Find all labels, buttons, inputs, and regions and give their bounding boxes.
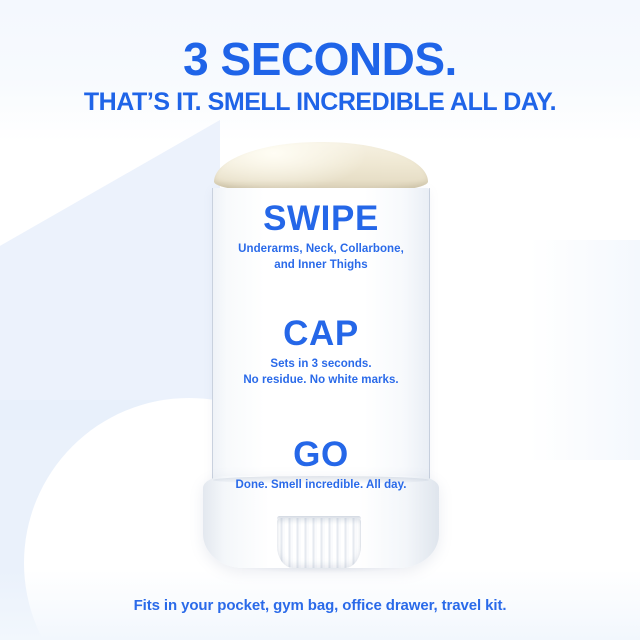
step-detail-line: Underarms, Neck, Collarbone, bbox=[217, 242, 425, 258]
step-spacer bbox=[217, 291, 425, 315]
deodorant-stick-product: SWIPE Underarms, Neck, Collarbone, and I… bbox=[203, 140, 439, 572]
step-title-swipe: SWIPE bbox=[217, 200, 425, 237]
step-title-cap: CAP bbox=[217, 315, 425, 352]
step-detail-swipe: Underarms, Neck, Collarbone, and Inner T… bbox=[217, 242, 425, 273]
product-body-left-edge bbox=[212, 188, 213, 488]
twist-dial-knob bbox=[277, 518, 361, 568]
step-item-swipe: SWIPE Underarms, Neck, Collarbone, and I… bbox=[217, 200, 425, 273]
step-detail-line: Done. Smell incredible. All day. bbox=[217, 478, 425, 494]
step-detail-line: No residue. No white marks. bbox=[217, 373, 425, 389]
headline-group: 3 SECONDS. THAT’S IT. SMELL INCREDIBLE A… bbox=[0, 36, 640, 116]
step-item-go: GO Done. Smell incredible. All day. bbox=[217, 436, 425, 494]
headline-secondary: THAT’S IT. SMELL INCREDIBLE ALL DAY. bbox=[0, 89, 640, 117]
background-right-fade bbox=[530, 240, 640, 460]
step-detail-line: and Inner Thighs bbox=[217, 258, 425, 274]
product-body-right-edge bbox=[429, 188, 430, 488]
step-title-go: GO bbox=[217, 436, 425, 473]
headline-primary: 3 SECONDS. bbox=[0, 36, 640, 83]
step-spacer bbox=[217, 406, 425, 436]
footer-caption: Fits in your pocket, gym bag, office dra… bbox=[0, 597, 640, 614]
product-marketing-poster: 3 SECONDS. THAT’S IT. SMELL INCREDIBLE A… bbox=[0, 0, 640, 640]
step-detail-cap: Sets in 3 seconds. No residue. No white … bbox=[217, 357, 425, 388]
step-detail-go: Done. Smell incredible. All day. bbox=[217, 478, 425, 494]
background-left-wedge-shape bbox=[0, 120, 220, 430]
step-detail-line: Sets in 3 seconds. bbox=[217, 357, 425, 373]
instruction-steps-list: SWIPE Underarms, Neck, Collarbone, and I… bbox=[217, 200, 425, 494]
step-item-cap: CAP Sets in 3 seconds. No residue. No wh… bbox=[217, 315, 425, 388]
